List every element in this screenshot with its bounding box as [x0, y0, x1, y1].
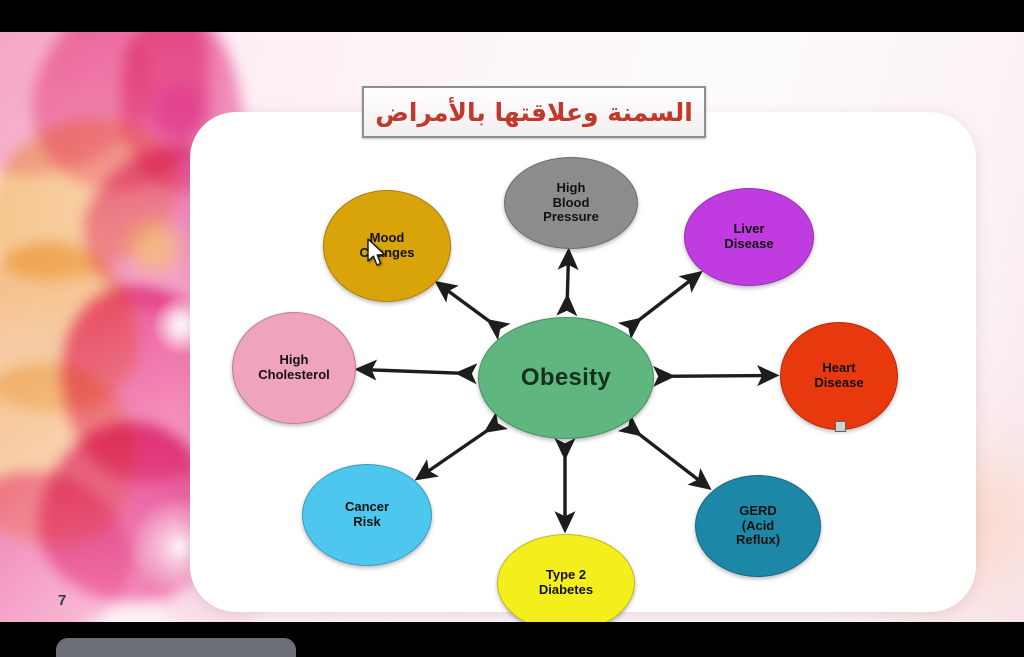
- connector-obesity-to-gerd-acid-reflux: [633, 429, 703, 483]
- slide-title-plaque: السمنة وعلاقتها بالأمراض: [362, 86, 706, 138]
- connector-obesity-to-high-cholesterol: [366, 370, 466, 374]
- node-liver-disease[interactable]: LiverDisease: [684, 188, 814, 286]
- node-high-blood-pressure[interactable]: HighBloodPressure: [504, 157, 638, 249]
- obesity-mindmap: MoodChangesHighBloodPressureLiverDisease…: [190, 112, 976, 612]
- player-control-bar[interactable]: [56, 638, 296, 657]
- connector-obesity-to-mood-changes: [444, 288, 496, 326]
- presentation-slide: السمنة وعلاقتها بالأمراض MoodChangesHigh…: [0, 32, 1024, 622]
- node-gerd-acid-reflux-label: GERD(AcidReflux): [730, 504, 786, 548]
- connector-obesity-to-cancer-risk: [424, 427, 493, 475]
- screen: السمنة وعلاقتها بالأمراض MoodChangesHigh…: [0, 0, 1024, 657]
- node-cancer-risk-label: CancerRisk: [339, 500, 395, 529]
- connector-obesity-to-liver-disease: [633, 278, 694, 325]
- slide-number: 7: [58, 592, 66, 609]
- selection-handle[interactable]: [835, 421, 846, 432]
- node-high-cholesterol[interactable]: HighCholesterol: [232, 312, 356, 424]
- node-gerd-acid-reflux[interactable]: GERD(AcidReflux): [695, 475, 821, 577]
- node-liver-disease-label: LiverDisease: [718, 222, 779, 251]
- node-high-blood-pressure-label: HighBloodPressure: [537, 181, 605, 225]
- mouse-cursor-icon: [366, 238, 388, 268]
- node-obesity[interactable]: Obesity: [478, 317, 654, 439]
- node-type-2-diabetes-label: Type 2Diabetes: [533, 568, 599, 597]
- node-type-2-diabetes[interactable]: Type 2Diabetes: [497, 534, 635, 622]
- connector-obesity-to-heart-disease: [664, 376, 768, 377]
- page-title: السمنة وعلاقتها بالأمراض: [375, 98, 693, 127]
- node-heart-disease[interactable]: HeartDisease: [780, 322, 898, 430]
- node-high-cholesterol-label: HighCholesterol: [252, 353, 336, 382]
- node-cancer-risk[interactable]: CancerRisk: [302, 464, 432, 566]
- node-obesity-label: Obesity: [515, 365, 617, 392]
- node-heart-disease-label: HeartDisease: [808, 361, 869, 390]
- connector-obesity-to-high-blood-pressure: [567, 259, 568, 305]
